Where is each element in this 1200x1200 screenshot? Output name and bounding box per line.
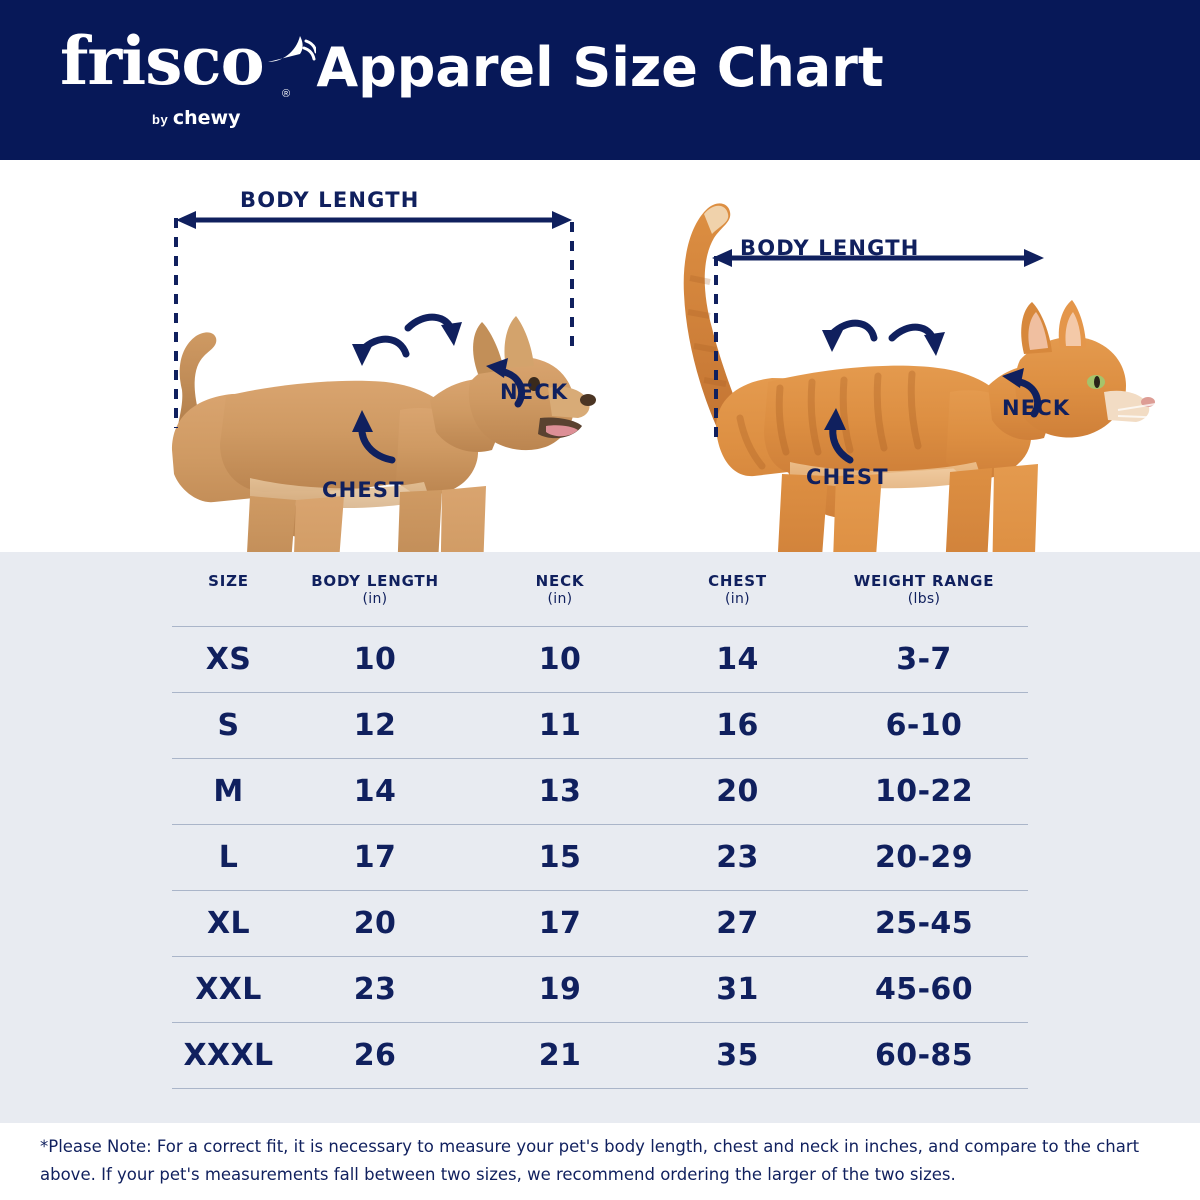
size-chart-page: frisco ® by chewy Apparel Size Chart [0,0,1200,1200]
page-title: Apparel Size Chart [0,36,1200,99]
footnote-band: *Please Note: For a correct fit, it is n… [0,1123,1200,1200]
cell-body-length: 12 [285,693,465,759]
column-header-size: SIZE [172,562,285,627]
cell-chest: 27 [655,891,820,957]
dog-ear-front [504,316,534,368]
cell-size: M [172,759,285,825]
cell-chest: 20 [655,759,820,825]
cell-neck: 10 [465,627,655,693]
column-header-chest-text: CHEST [708,572,767,590]
table-row: XS 10 10 14 3-7 [172,627,1028,693]
table-row: M 14 13 20 10-22 [172,759,1028,825]
cell-weight-range: 6-10 [820,693,1028,759]
cell-neck: 13 [465,759,655,825]
cell-size: S [172,693,285,759]
column-header-weight-range-unit: (lbs) [820,591,1028,609]
cat-pupil [1094,376,1100,388]
dog-body-length-arrowhead-left [176,211,196,229]
cat-illustration [620,160,1200,552]
cell-weight-range: 60-85 [820,1023,1028,1089]
cat-front-leg-far [943,468,992,552]
cell-body-length: 14 [285,759,465,825]
cell-neck: 15 [465,825,655,891]
cell-weight-range: 10-22 [820,759,1028,825]
cell-chest: 16 [655,693,820,759]
cell-size: XL [172,891,285,957]
cell-weight-range: 45-60 [820,957,1028,1023]
cell-chest: 35 [655,1023,820,1089]
cat-girth-arrowhead-2 [924,332,945,356]
cell-weight-range: 20-29 [820,825,1028,891]
cat-chest-label: CHEST [806,465,889,489]
cat-body-length-arrowhead-right [1024,249,1044,267]
cell-chest: 14 [655,627,820,693]
cell-size: XXL [172,957,285,1023]
cell-size: XS [172,627,285,693]
table-row: XXXL 26 21 35 60-85 [172,1023,1028,1089]
cell-size: XXXL [172,1023,285,1089]
column-header-body-length-unit: (in) [285,591,465,609]
cell-body-length: 26 [285,1023,465,1089]
cell-neck: 21 [465,1023,655,1089]
cell-weight-range: 3-7 [820,627,1028,693]
dog-nose [580,394,596,406]
cat-body-length-label: BODY LENGTH [740,236,920,260]
dog-front-leg-near [439,486,486,552]
cell-neck: 19 [465,957,655,1023]
cell-size: L [172,825,285,891]
column-header-size-text: SIZE [208,572,249,590]
page-header: frisco ® by chewy Apparel Size Chart [0,0,1200,160]
cat-neck-label: NECK [1002,396,1070,420]
dog-chest-label: CHEST [322,478,405,502]
cell-body-length: 10 [285,627,465,693]
cell-weight-range: 25-45 [820,891,1028,957]
dog-illustration [0,160,620,552]
column-header-neck: NECK (in) [465,562,655,627]
column-header-neck-text: NECK [536,572,585,590]
cell-body-length: 20 [285,891,465,957]
dog-body-length-label: BODY LENGTH [240,188,420,212]
dog-girth-arrowhead-1 [352,344,373,366]
dog-girth-arrowhead-2 [441,322,462,346]
table-row: L 17 15 23 20-29 [172,825,1028,891]
column-header-chest: CHEST (in) [655,562,820,627]
table-row: S 12 11 16 6-10 [172,693,1028,759]
column-header-body-length-text: BODY LENGTH [311,572,439,590]
logo-chewy-text: chewy [173,107,241,129]
size-table-band: SIZE BODY LENGTH (in) NECK (in) CHEST (i… [0,552,1200,1123]
table-header-row: SIZE BODY LENGTH (in) NECK (in) CHEST (i… [172,562,1028,627]
cat-girth-arrowhead-1 [822,330,843,352]
cell-body-length: 17 [285,825,465,891]
footnote-text: *Please Note: For a correct fit, it is n… [40,1133,1160,1189]
size-table: SIZE BODY LENGTH (in) NECK (in) CHEST (i… [172,562,1028,1089]
cell-neck: 11 [465,693,655,759]
logo-by-text: by [152,112,168,127]
column-header-body-length: BODY LENGTH (in) [285,562,465,627]
dog-hind-leg-far [243,496,296,552]
table-row: XL 20 17 27 25-45 [172,891,1028,957]
cell-body-length: 23 [285,957,465,1023]
dog-hind-leg-near [291,496,344,552]
column-header-weight-range: WEIGHT RANGE (lbs) [820,562,1028,627]
column-header-chest-unit: (in) [655,591,820,609]
cat-front-leg-near [991,464,1038,552]
table-row: XXL 23 19 31 45-60 [172,957,1028,1023]
logo-subbrand: by chewy [152,107,240,129]
dog-neck-label: NECK [500,380,568,404]
column-header-weight-range-text: WEIGHT RANGE [854,572,995,590]
cell-chest: 23 [655,825,820,891]
column-header-neck-unit: (in) [465,591,655,609]
illustration-band: BODY LENGTH NECK CHEST [0,160,1200,552]
dog-body-length-arrowhead-right [552,211,572,229]
cell-chest: 31 [655,957,820,1023]
cell-neck: 17 [465,891,655,957]
